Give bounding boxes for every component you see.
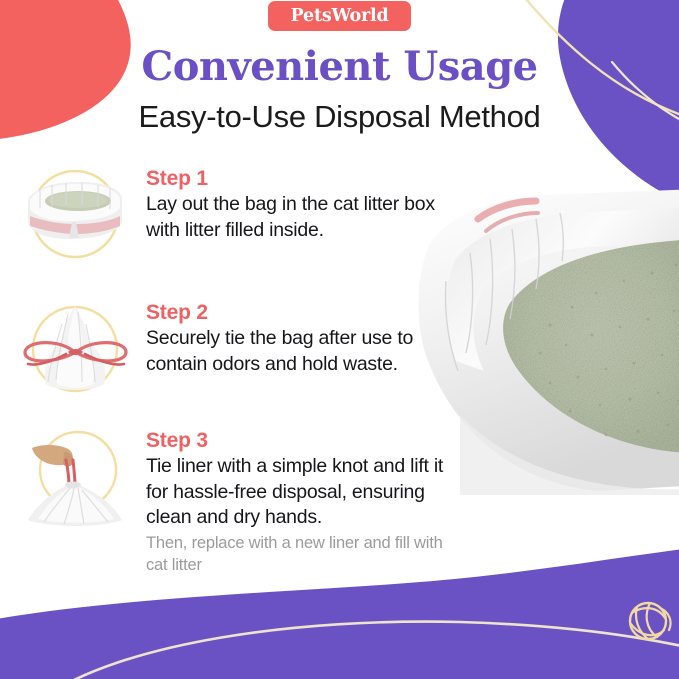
hand-lifting-bag-icon <box>16 422 134 534</box>
step-2-text: Securely tie the bag after use to contai… <box>146 326 446 377</box>
infographic-canvas: PetsWorld Convenient Usage Easy-to-Use D… <box>0 0 679 679</box>
brand-badge: PetsWorld <box>268 1 411 31</box>
step-3-thumbnail <box>16 422 134 534</box>
step-2-body: Step 2 Securely tie the bag after use to… <box>134 294 470 377</box>
page-subtitle: Easy-to-Use Disposal Method <box>0 98 679 136</box>
step-item-2: Step 2 Securely tie the bag after use to… <box>0 294 470 406</box>
step-1-label: Step 1 <box>146 166 470 192</box>
steps-list: Step 1 Lay out the bag in the cat litter… <box>0 160 470 576</box>
step-item-1: Step 1 Lay out the bag in the cat litter… <box>0 160 470 272</box>
step-3-body: Step 3 Tie liner with a simple knot and … <box>134 422 470 576</box>
tied-bag-with-ribbon-icon <box>16 294 134 406</box>
step-1-text: Lay out the bag in the cat litter box wi… <box>146 192 446 243</box>
step-3-note: Then, replace with a new liner and fill … <box>146 532 446 576</box>
step-1-thumbnail <box>16 160 134 272</box>
step-1-body: Step 1 Lay out the bag in the cat litter… <box>134 160 470 243</box>
step-2-thumbnail <box>16 294 134 406</box>
litter-box-with-liner-icon <box>16 160 134 272</box>
step-2-label: Step 2 <box>146 300 470 326</box>
brand-name: PetsWorld <box>291 6 389 26</box>
step-3-label: Step 3 <box>146 428 470 454</box>
step-3-text: Tie liner with a simple knot and lift it… <box>146 454 446 531</box>
page-title: Convenient Usage <box>0 44 679 90</box>
step-item-3: Step 3 Tie liner with a simple knot and … <box>0 422 470 576</box>
